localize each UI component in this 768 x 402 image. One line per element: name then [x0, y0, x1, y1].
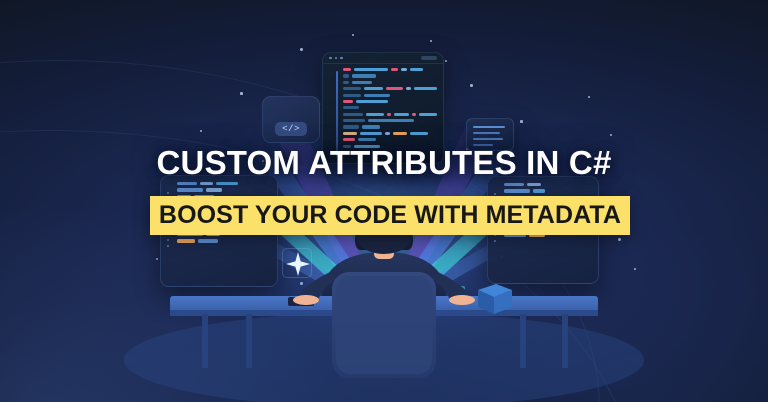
left-hand — [293, 295, 319, 305]
subtitle-text: BOOST YOUR CODE WITH METADATA — [159, 203, 621, 228]
subtitle-banner: BOOST YOUR CODE WITH METADATA — [150, 196, 630, 235]
right-hand — [449, 295, 475, 305]
page-title: CUSTOM ATTRIBUTES IN C# — [0, 146, 768, 179]
blog-header-banner: </> — [0, 0, 768, 402]
